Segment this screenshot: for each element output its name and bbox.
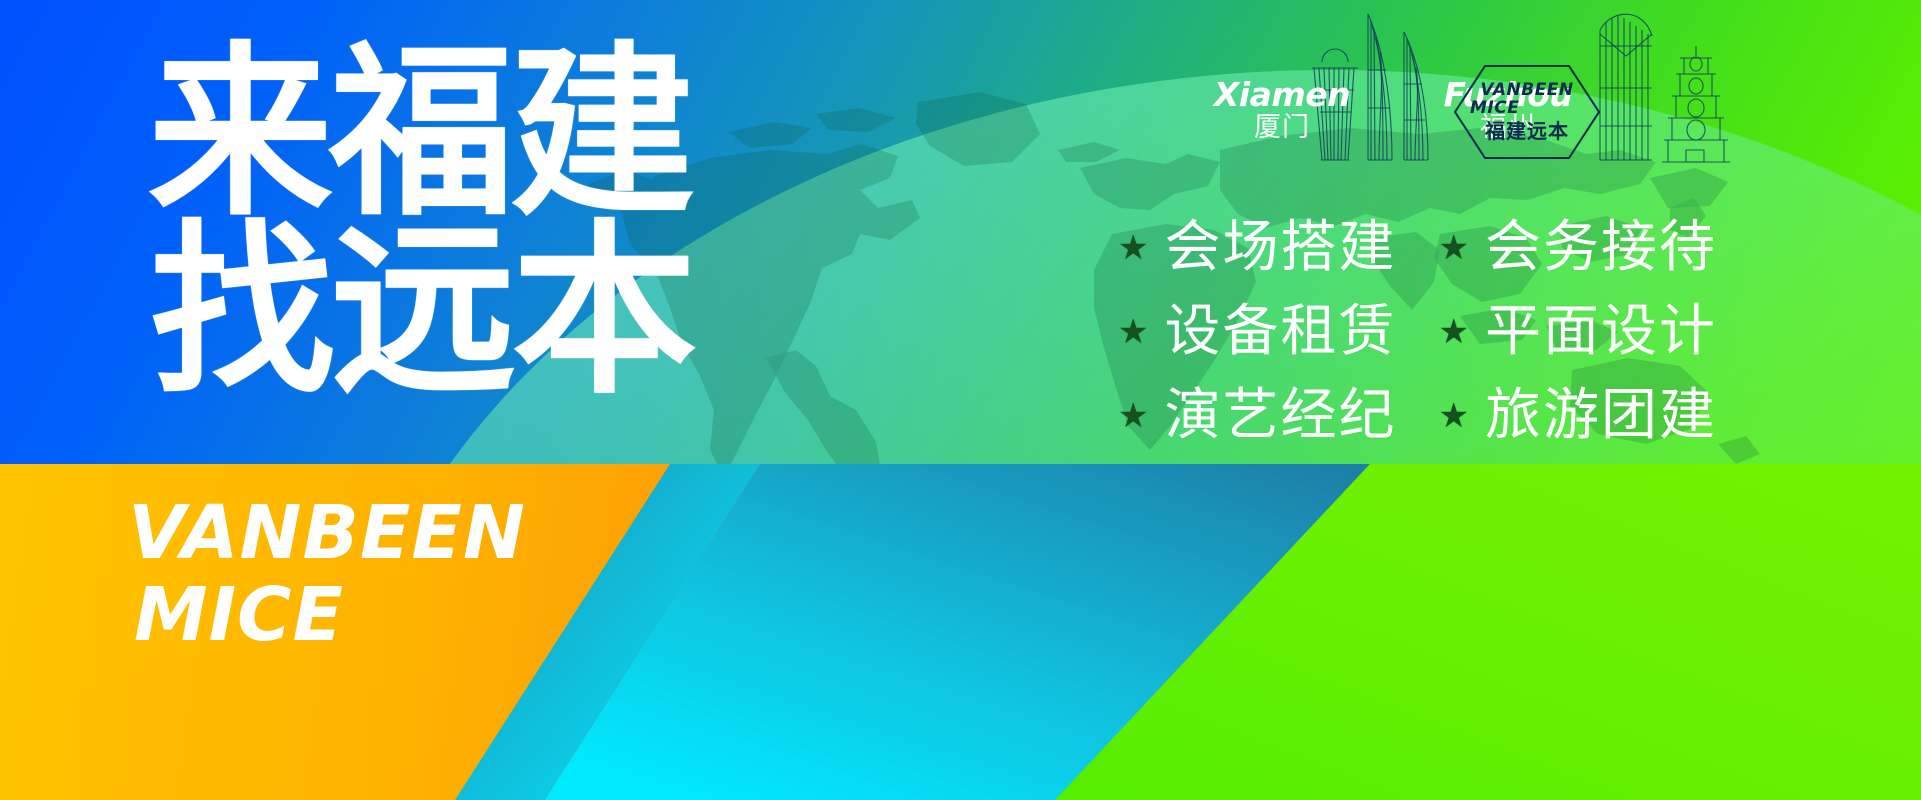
brand-line-1: VANBEEN	[128, 492, 526, 574]
headline: 来福建 找远本	[148, 44, 693, 400]
star-icon: ★	[1118, 315, 1148, 349]
promotional-banner: 来福建 找远本 ★ 会场搭建 ★ 会务接待 ★ 设备租赁 ★ 平面设计 ★	[0, 0, 1921, 800]
logo-line-3: 福建远本	[1485, 119, 1569, 143]
services-list: ★ 会场搭建 ★ 会务接待 ★ 设备租赁 ★ 平面设计 ★ 演艺经纪 ★ 旅游团…	[1118, 210, 1717, 454]
brand-line-2: MICE	[134, 574, 526, 656]
star-icon: ★	[1118, 231, 1148, 265]
star-icon: ★	[1438, 399, 1468, 433]
service-label: 演艺经纪	[1164, 378, 1396, 454]
service-item: ★ 平面设计	[1438, 294, 1716, 370]
service-item: ★ 会务接待	[1438, 210, 1716, 286]
hero-gradient-area: 来福建 找远本 ★ 会场搭建 ★ 会务接待 ★ 设备租赁 ★ 平面设计 ★	[0, 0, 1921, 464]
service-label: 设备租赁	[1164, 294, 1396, 370]
service-item: ★ 会场搭建	[1118, 210, 1396, 286]
star-icon: ★	[1118, 399, 1148, 433]
service-item: ★ 旅游团建	[1438, 378, 1716, 454]
brand-wordmark: VANBEEN MICE	[128, 492, 526, 656]
service-label: 会务接待	[1485, 210, 1717, 286]
service-label: 旅游团建	[1485, 378, 1717, 454]
headline-line-2: 找远本	[150, 222, 693, 400]
headline-line-1: 来福建	[148, 44, 693, 222]
service-item: ★ 演艺经纪	[1118, 378, 1396, 454]
logo-line-2: MICE	[1470, 99, 1519, 118]
service-label: 会场搭建	[1164, 210, 1396, 286]
service-label: 平面设计	[1485, 294, 1717, 370]
bottom-brand-bar: VANBEEN MICE	[0, 464, 1921, 800]
service-item: ★ 设备租赁	[1118, 294, 1396, 370]
hexagon-logo-text: VANBEEN MICE 福建远本	[1452, 62, 1602, 162]
star-icon: ★	[1438, 315, 1468, 349]
vanbeen-hexagon-logo: VANBEEN MICE 福建远本	[1452, 62, 1602, 162]
star-icon: ★	[1438, 231, 1468, 265]
logo-line-1: VANBEEN	[1480, 82, 1573, 99]
